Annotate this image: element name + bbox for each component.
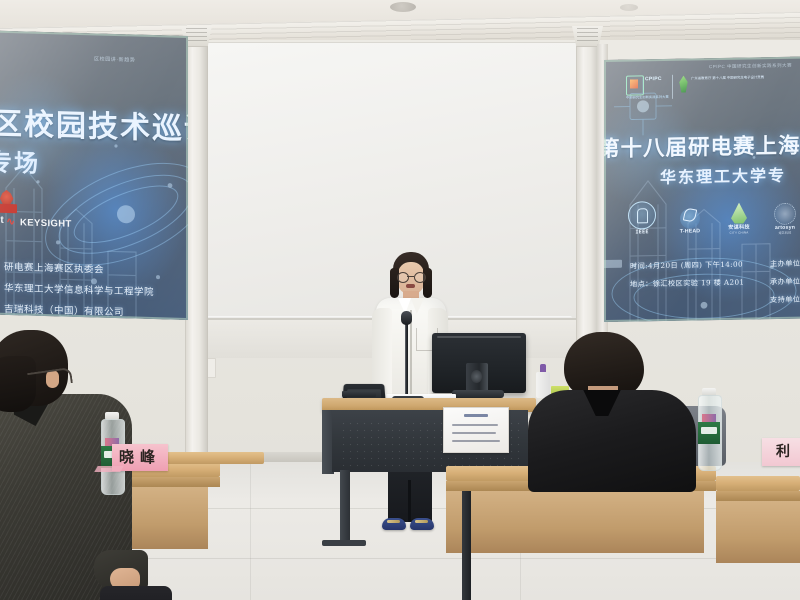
nameplate-left-fold <box>94 466 123 472</box>
armchina-logo-icon <box>730 202 749 223</box>
projection-screen-left: 区校园讲·新趋势 区校园技术巡讲 专场 Agilent ∿ KEYSIGHT 位… <box>0 31 188 320</box>
left-screen-org-line-1: 位：研电赛上海赛区执委会 <box>0 258 104 275</box>
contest-leaf-icon <box>678 76 689 93</box>
pillar-cap-lines <box>577 28 598 42</box>
badge-divider <box>672 75 673 99</box>
presenter-shoe-right <box>410 518 434 530</box>
presenter-glasses-icon <box>397 272 425 281</box>
desk-leg <box>462 491 471 600</box>
right-screen-title: 第十八届研电赛上海赛区 <box>604 128 800 163</box>
left-screen-sponsor-row: Agilent ∿ KEYSIGHT <box>0 202 184 248</box>
pillar-cap-lines <box>186 28 207 42</box>
podium-notice-sign <box>443 407 509 453</box>
artosyn-logo-icon <box>774 203 796 225</box>
keysight-wave-icon: ∿ <box>6 218 15 227</box>
nameplate-right-text: 利 <box>762 438 800 466</box>
keysight-logo-text: KEYSIGHT <box>20 217 72 229</box>
ceiling-vent-icon <box>390 2 416 12</box>
microphone-head-icon <box>401 311 412 325</box>
contest-seal-icon <box>0 191 17 217</box>
bottle-label <box>698 422 720 444</box>
organizer-label-2: 承办单位： <box>770 276 800 287</box>
monitor-stand-base <box>452 390 504 398</box>
audience-member-right <box>520 332 710 492</box>
projector-osd-badge <box>604 260 622 268</box>
projection-screen-right: CPIPC 中国研究生创新实践系列大赛 CPIPC 中国研究生创新实践系列大赛 … <box>604 57 800 322</box>
seal-box-icon <box>0 204 17 214</box>
right-screen-subtitle: 华东理工大学专 <box>660 162 786 188</box>
lecture-hall-photo: 区校园讲·新趋势 区校园技术巡讲 专场 Agilent ∿ KEYSIGHT 位… <box>0 0 800 600</box>
presenter-shoe-left <box>382 518 406 530</box>
contest-badge-group: CPIPC 中国研究生创新实践系列大赛 广东省教育厅 第十八届 中国研究生电子设… <box>626 74 708 101</box>
right-screen-sponsor-row: IEEE T-HEAD 安谋科技 CITY CHINA artosyn 炬芯科技 <box>620 198 800 251</box>
cpipc-badge-label: CPIPC <box>645 76 662 82</box>
presenter-mouth <box>406 284 415 288</box>
left-screen-subtitle: 专场 <box>0 142 40 178</box>
keyboard[interactable] <box>342 391 376 397</box>
cpipc-badge-sub: 中国研究生创新实践系列大赛 <box>626 94 669 100</box>
sponsor-name: T-HEAD <box>664 228 716 235</box>
ieee-logo-icon <box>628 201 656 229</box>
sponsor-sub: CITY CHINA <box>718 230 760 235</box>
sponsor-armchina: 安谋科技 CITY CHINA <box>718 202 760 235</box>
podium-foot-left <box>322 540 366 546</box>
left-screen-title: 区校园技术巡讲 <box>0 99 188 149</box>
organizer-label-3: 支持单位： <box>770 294 800 305</box>
sponsor-name: IEEE <box>620 229 664 236</box>
nameplate-right: 利 <box>762 438 800 466</box>
left-screen-tiny-top: 区校园讲·新趋势 <box>94 55 135 63</box>
t-head-logo-icon <box>680 208 700 228</box>
event-location-line: 地点：徐汇校区实验 19 楼 A201 <box>630 278 744 290</box>
pillar-left <box>185 44 208 464</box>
sponsor-ieee: IEEE <box>620 201 664 236</box>
audience-left-lap <box>100 586 172 600</box>
podium-leg-left <box>340 470 350 544</box>
sponsor-thead: T-HEAD <box>664 204 716 235</box>
sponsor-artosyn: artosyn 炬芯科技 <box>762 202 800 235</box>
microphone-stand <box>405 317 408 401</box>
cpipc-badge-icon <box>626 75 644 95</box>
sponsor-sub: 炬芯科技 <box>762 230 800 235</box>
audience-desk-far-right <box>716 476 800 600</box>
organizer-label-1: 主办单位： <box>770 258 800 269</box>
ceiling-light-icon <box>620 4 638 11</box>
event-time-line: 时间:4月20日 (周四) 下午14:00 <box>630 260 743 272</box>
